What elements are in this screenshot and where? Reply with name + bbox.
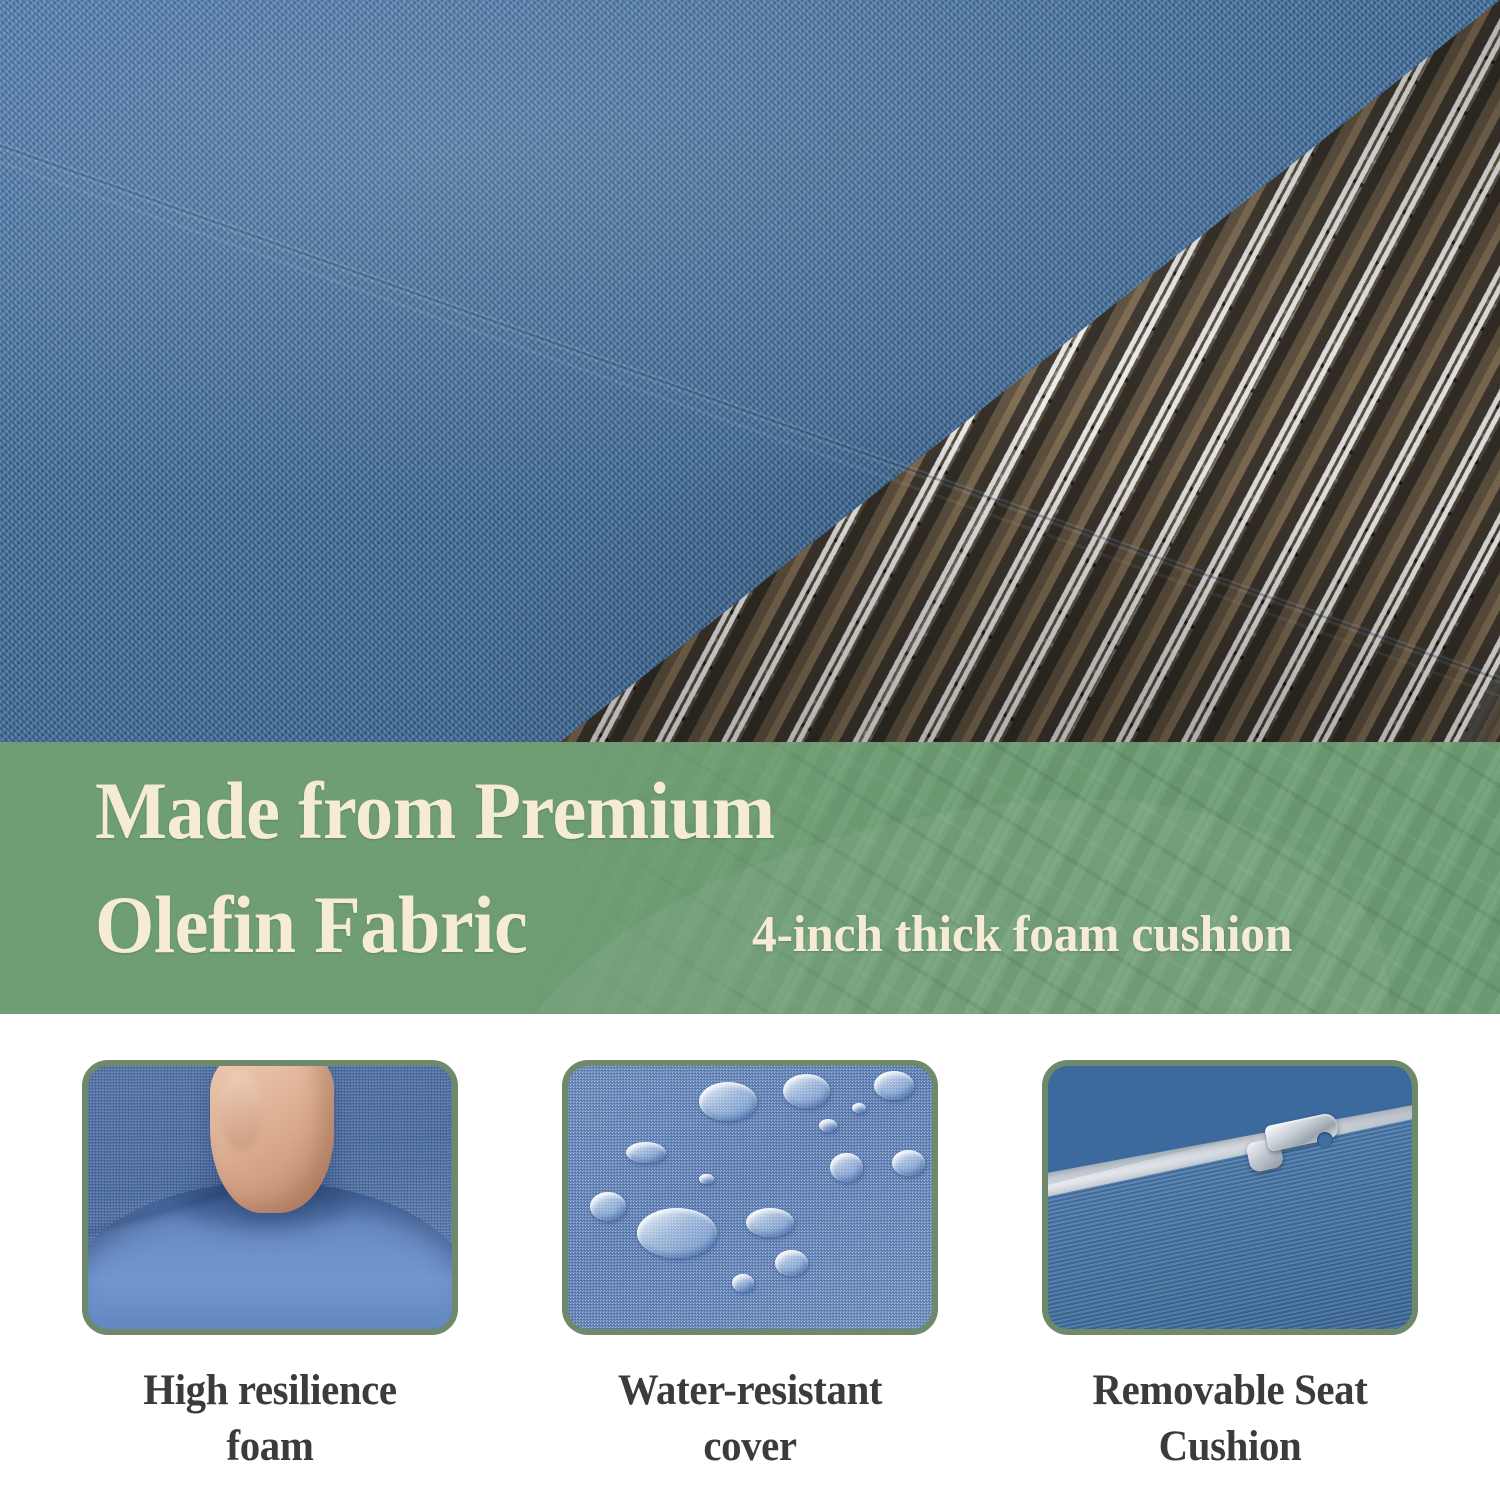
feature-caption-2-line-2: cover bbox=[571, 1419, 928, 1475]
feature-caption-1-line-1: High resilience bbox=[91, 1363, 448, 1419]
water-droplet bbox=[699, 1082, 757, 1121]
feature-caption-3-line-2: Cushion bbox=[1051, 1419, 1408, 1475]
water-droplet bbox=[819, 1119, 837, 1132]
water-droplet bbox=[699, 1174, 714, 1185]
feature-caption-2-line-1: Water-resistant bbox=[571, 1363, 928, 1419]
feature-thumbnail-1 bbox=[82, 1060, 458, 1335]
feature-card-removable-seat-cushion: Removable Seat Cushion bbox=[1042, 1060, 1418, 1475]
feature-cards-section: High resilience foam bbox=[0, 1014, 1500, 1500]
feature-thumbnail-3 bbox=[1042, 1060, 1418, 1335]
feature-card-high-resilience-foam: High resilience foam bbox=[82, 1060, 458, 1475]
hero-product-photo bbox=[0, 0, 1500, 742]
headline-line-2-row: Olefin Fabric bbox=[95, 876, 560, 974]
water-droplet bbox=[892, 1150, 925, 1176]
feature-caption-1: High resilience foam bbox=[91, 1363, 448, 1475]
water-droplet bbox=[637, 1208, 717, 1258]
feature-caption-3-line-1: Removable Seat bbox=[1051, 1363, 1408, 1419]
feature-caption-3: Removable Seat Cushion bbox=[1051, 1363, 1408, 1475]
feature-caption-2: Water-resistant cover bbox=[571, 1363, 928, 1475]
headline-subline: 4-inch thick foam cushion bbox=[752, 905, 1292, 965]
water-droplet bbox=[746, 1208, 793, 1237]
headline-line-1: Made from Premium bbox=[95, 762, 775, 860]
zipper-on-cushion-image bbox=[1048, 1066, 1412, 1329]
knuckle-highlight bbox=[219, 1071, 263, 1150]
water-droplet bbox=[732, 1274, 754, 1292]
feature-caption-1-line-2: foam bbox=[91, 1419, 448, 1475]
water-droplet bbox=[830, 1153, 863, 1182]
fist-pressing-foam-image bbox=[88, 1066, 452, 1329]
headline-line-2: Olefin Fabric bbox=[95, 876, 527, 974]
water-droplets-on-fabric-image bbox=[568, 1066, 932, 1329]
water-droplet bbox=[874, 1071, 914, 1100]
water-droplet bbox=[783, 1074, 830, 1108]
feature-card-water-resistant-cover: Water-resistant cover bbox=[562, 1060, 938, 1475]
feature-thumbnail-2 bbox=[562, 1060, 938, 1335]
